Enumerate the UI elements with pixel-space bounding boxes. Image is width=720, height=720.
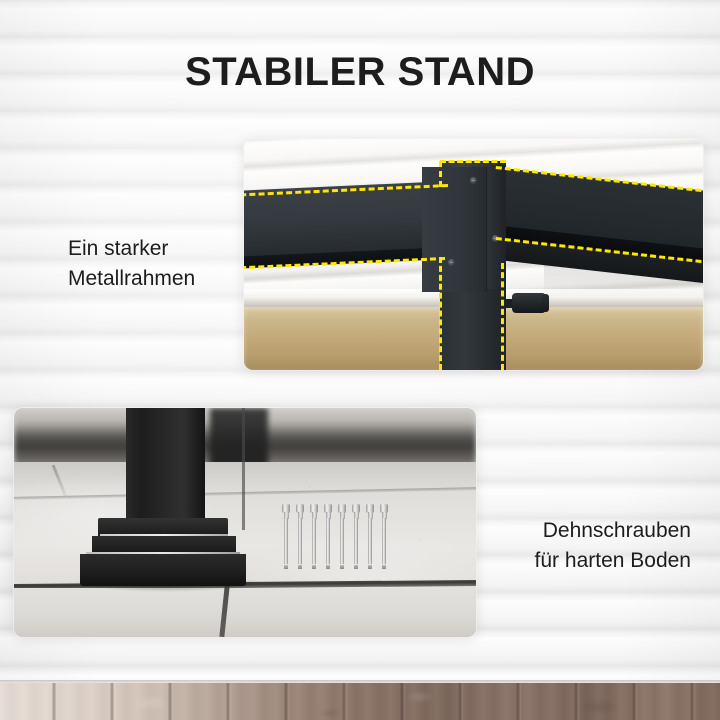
expansion-screw-icon xyxy=(338,504,346,566)
highlight-dash-post-upper-left xyxy=(439,161,442,187)
expansion-screw-icon xyxy=(296,504,304,566)
page-title: STABILER STAND xyxy=(0,52,720,92)
expansion-screw-icon xyxy=(366,504,374,566)
expansion-screw-icon xyxy=(310,504,318,566)
screw-tip xyxy=(340,565,344,569)
photo-panel-base-screws xyxy=(14,408,476,637)
screw-shaft xyxy=(340,518,344,564)
photo-panel-metal-frame xyxy=(244,139,703,370)
highlight-dash-post-right xyxy=(501,263,504,370)
screw-tip xyxy=(326,565,330,569)
base-plate-tier-bottom xyxy=(80,554,246,586)
base-screws-scene xyxy=(14,408,476,637)
screw-shaft xyxy=(284,518,288,564)
expansion-screw-icon xyxy=(380,504,388,566)
frame-post-lower xyxy=(440,289,502,370)
wooden-deck xyxy=(0,680,720,720)
screw-shaft xyxy=(354,518,358,564)
screw-shaft xyxy=(298,518,302,564)
screw-tip xyxy=(382,565,386,569)
screw-tip xyxy=(354,565,358,569)
screw-shaft xyxy=(312,518,316,564)
post-highlight xyxy=(242,408,245,530)
highlight-dash-post-top xyxy=(440,160,506,163)
caption-right: Dehnschrauben für harten Boden xyxy=(535,516,691,576)
expansion-screws-group xyxy=(282,504,394,566)
expansion-screw-icon xyxy=(282,504,290,566)
metal-frame-scene xyxy=(244,139,703,370)
knob-cylinder-icon xyxy=(512,293,546,313)
screw-tip xyxy=(312,565,316,569)
highlight-dash-post-left xyxy=(439,257,442,370)
screw-tip xyxy=(298,565,302,569)
screw-shaft xyxy=(382,518,386,564)
deck-grain xyxy=(0,683,720,720)
screw-tip xyxy=(284,565,288,569)
paver-foreground xyxy=(14,588,476,637)
caption-left: Ein starker Metallrahmen xyxy=(68,234,195,294)
screw-tip xyxy=(368,565,372,569)
screw-icon xyxy=(448,259,455,266)
screw-shaft xyxy=(326,518,330,564)
infographic-canvas: STABILER STAND Ein starker Metallrahmen … xyxy=(0,0,720,720)
knob-tip xyxy=(542,294,549,312)
expansion-screw-icon xyxy=(352,504,360,566)
support-post xyxy=(126,408,205,530)
expansion-screw-icon xyxy=(324,504,332,566)
screw-icon xyxy=(470,177,477,184)
background-post-blur xyxy=(210,408,268,468)
screw-shaft xyxy=(368,518,372,564)
